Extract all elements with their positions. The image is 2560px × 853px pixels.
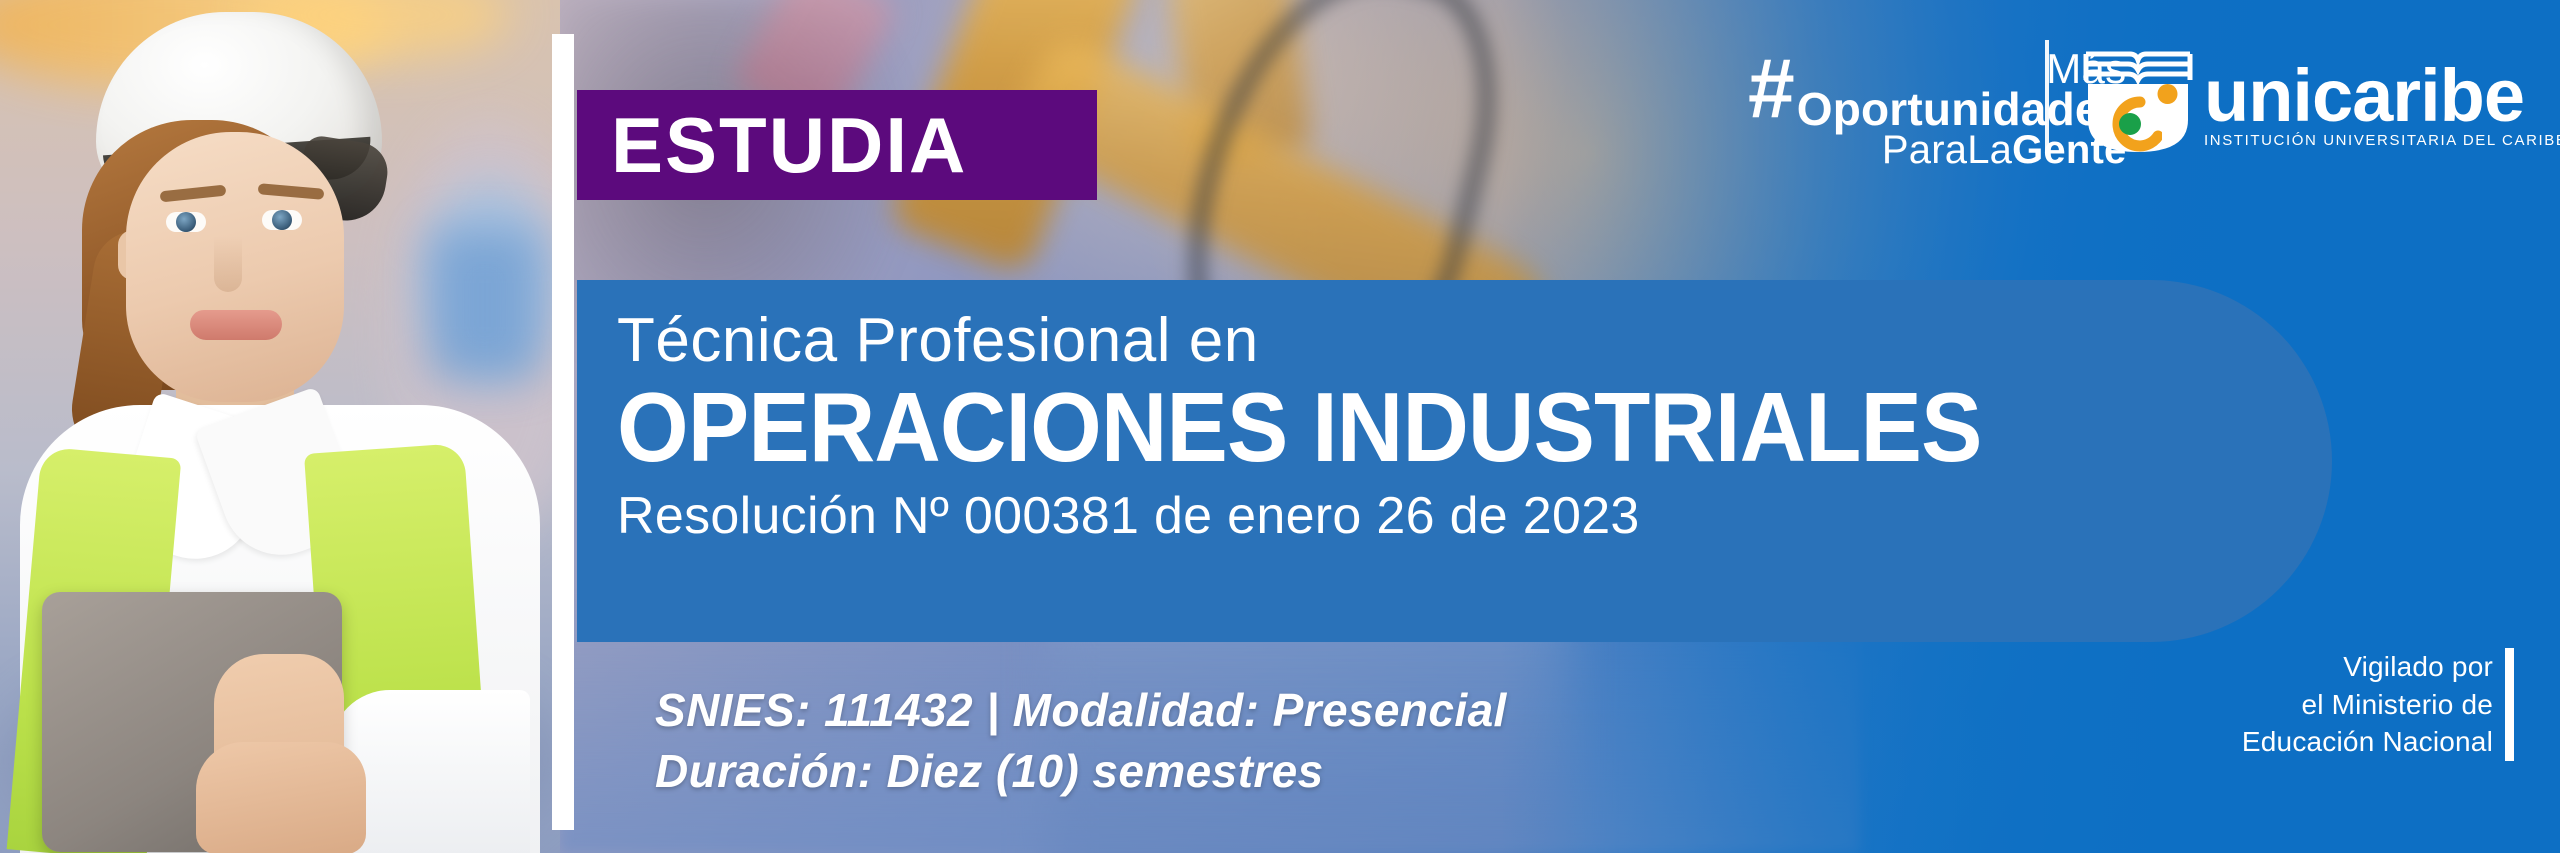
program-resolution: Resolución Nº 000381 de enero 26 de 2023 <box>617 488 2332 545</box>
hand <box>196 742 366 853</box>
logo-text: unicaribe INSTITUCIÓN UNIVERSITARIA DEL … <box>2204 64 2560 149</box>
unicaribe-shield-icon <box>2078 40 2198 158</box>
iris <box>272 210 292 230</box>
iris <box>176 212 196 232</box>
slogan-lines: Más Oportunidades ParaLaGente <box>1797 48 2127 170</box>
supervision-line-3: Educación Nacional <box>2242 723 2493 761</box>
vertical-divider <box>552 34 574 830</box>
unicaribe-logo[interactable]: unicaribe INSTITUCIÓN UNIVERSITARIA DEL … <box>2078 40 2560 158</box>
supervision-notice: Vigilado por el Ministerio de Educación … <box>2242 648 2514 761</box>
supervision-line-2: el Ministerio de <box>2301 686 2493 724</box>
campaign-slogan: # Más Oportunidades ParaLaGente <box>1748 48 2126 170</box>
logo-separator <box>2045 40 2049 152</box>
supervision-line-1: Vigilado por <box>2343 648 2493 686</box>
detail-line-snies: SNIES: 111432 | Modalidad: Presencial <box>655 680 1507 741</box>
detail-line-duration: Duración: Diez (10) semestres <box>655 741 1507 802</box>
supervision-bar <box>2505 648 2514 761</box>
program-banner: ESTUDIA Técnica Profesional en OPERACION… <box>0 0 2560 853</box>
nose <box>214 236 242 292</box>
slogan-line-2: Oportunidades <box>1797 86 2127 132</box>
program-title-panel: Técnica Profesional en OPERACIONES INDUS… <box>577 280 2332 642</box>
logo-tagline-row: INSTITUCIÓN UNIVERSITARIA DEL CARIBE <box>2204 132 2560 149</box>
logo-tagline: INSTITUCIÓN UNIVERSITARIA DEL CARIBE <box>2204 132 2560 149</box>
program-details: SNIES: 111432 | Modalidad: Presencial Du… <box>655 680 1507 801</box>
hashtag-icon: # <box>1748 52 1795 124</box>
estudia-badge: ESTUDIA <box>577 90 1097 200</box>
slogan-line-3-light: ParaLa <box>1882 128 2012 172</box>
estudia-label: ESTUDIA <box>577 106 967 184</box>
student-photo <box>0 0 560 853</box>
photo-screen-blur <box>430 230 540 380</box>
program-eyebrow: Técnica Profesional en <box>617 308 2332 374</box>
mouth <box>190 310 282 340</box>
logo-wordmark: unicaribe <box>2204 64 2560 128</box>
program-title: OPERACIONES INDUSTRIALES <box>617 378 2229 476</box>
supervision-lines: Vigilado por el Ministerio de Educación … <box>2242 648 2493 761</box>
